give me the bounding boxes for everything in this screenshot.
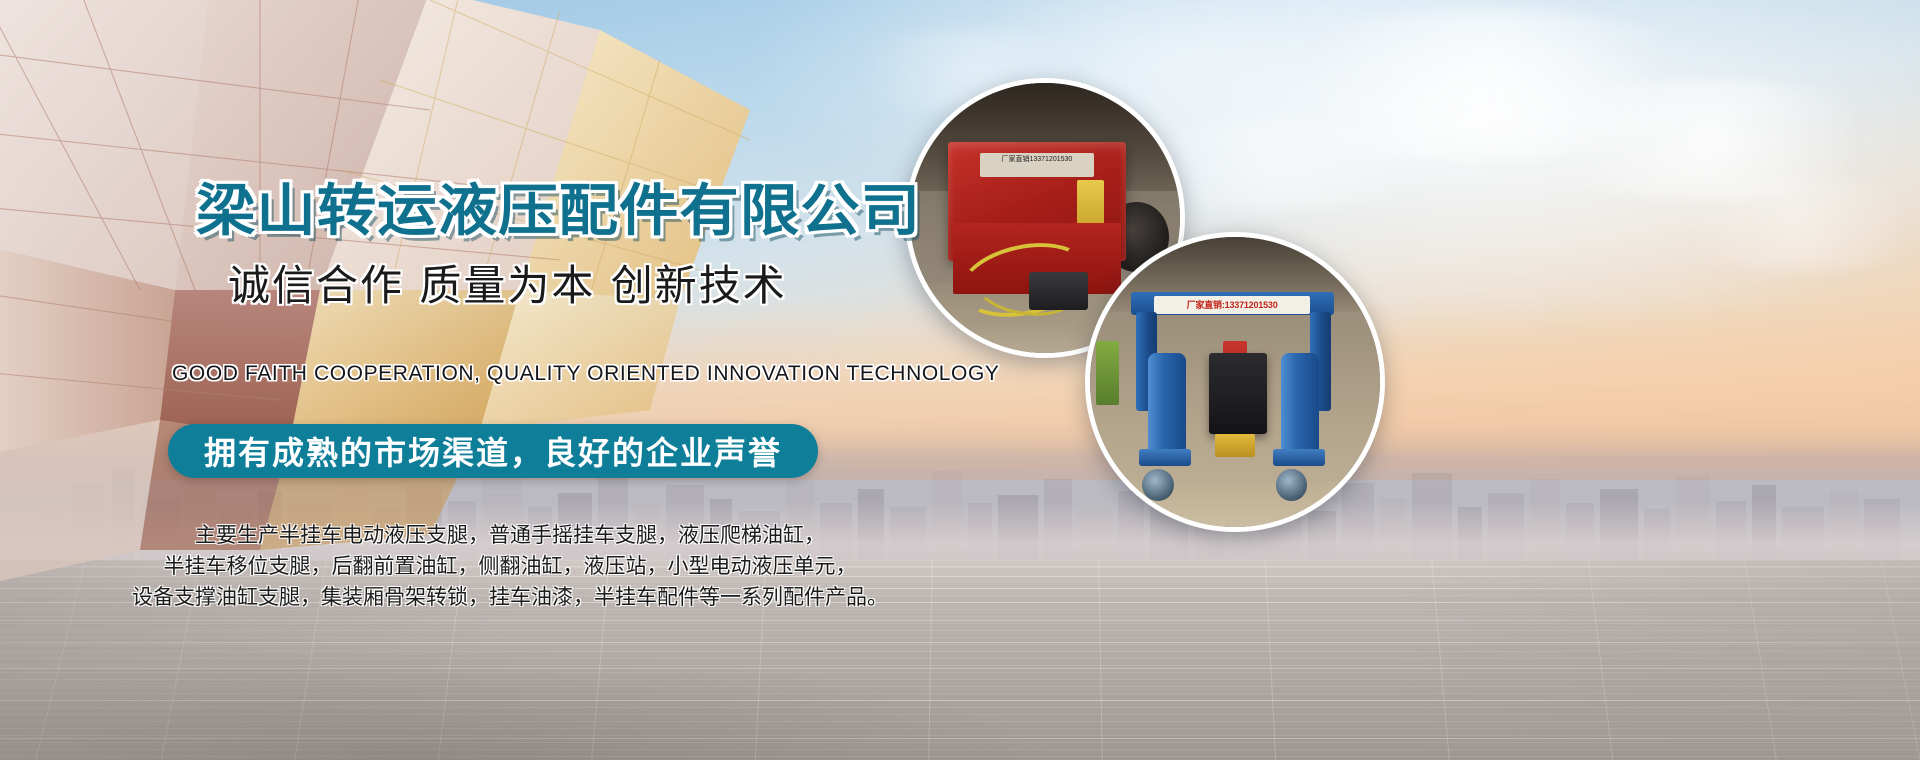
company-title: 梁山转运液压配件有限公司 — [196, 166, 921, 247]
slogan-english: GOOD FAITH COOPERATION, QUALITY ORIENTED… — [172, 362, 1000, 386]
description-line: 半挂车移位支腿，后翻前置油缸，侧翻油缸，液压站，小型电动液压单元， — [0, 551, 1020, 582]
description-block: 主要生产半挂车电动液压支腿，普通手摇挂车支腿，液压爬梯油缸， 半挂车移位支腿，后… — [0, 520, 1020, 613]
description-line: 设备支撑油缸支腿，集装厢骨架转锁，挂车油漆，半挂车配件等一系列配件产品。 — [0, 582, 1020, 613]
machine-sign-text: 厂家直销:13371201530 — [1187, 298, 1278, 311]
highlight-pill: 拥有成熟的市场渠道，良好的企业声誉 — [168, 424, 818, 478]
highlight-pill-text: 拥有成熟的市场渠道，良好的企业声誉 — [204, 428, 782, 474]
banner-copy: 梁山转运液压配件有限公司 诚信合作 质量为本 创新技术 GOOD FAITH C… — [0, 0, 1020, 760]
cloud — [1500, 80, 1920, 200]
promotional-banner: 厂家直销13371201530 厂家直销:13371201530 — [0, 0, 1920, 760]
photo-blue-hydraulic-legs: 厂家直销:13371201530 — [1085, 232, 1385, 532]
description-line: 主要生产半挂车电动液压支腿，普通手摇挂车支腿，液压爬梯油缸， — [0, 520, 1020, 551]
slogan-chinese: 诚信合作 质量为本 创新技术 — [228, 252, 787, 313]
machine-sign: 厂家直销:13371201530 — [1154, 296, 1311, 315]
